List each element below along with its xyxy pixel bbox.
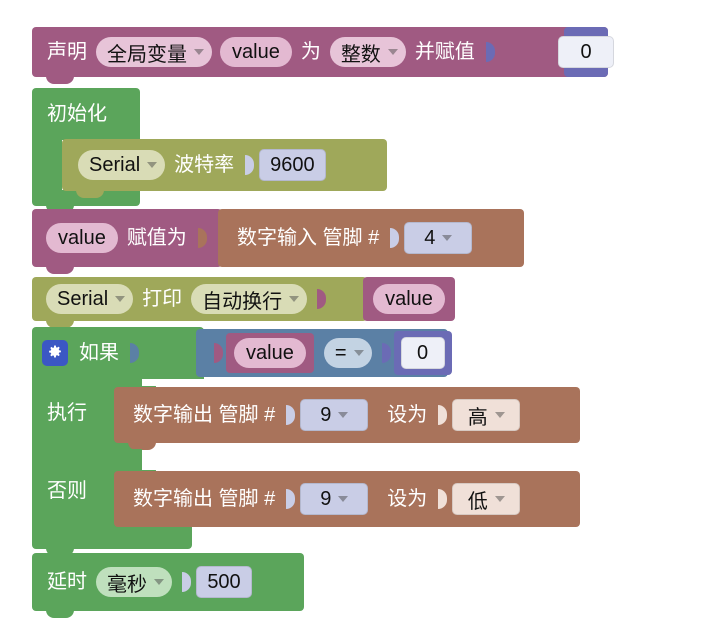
condition-socket <box>128 340 141 366</box>
number-block-0[interactable]: 0 <box>564 27 608 77</box>
delay-unit-value: 毫秒 <box>107 568 147 597</box>
serial-print-port-value: Serial <box>57 288 108 311</box>
variable-get-block-print[interactable]: value <box>363 277 455 321</box>
compare-block[interactable]: value = 0 <box>196 329 448 377</box>
gear-icon[interactable] <box>42 340 68 366</box>
digital-read-label: 数字输入 管脚 # <box>232 228 384 248</box>
variable-get-block-condition[interactable]: value <box>226 333 314 373</box>
pin-value-low: 9 <box>320 488 331 511</box>
serial-port-value: Serial <box>89 154 140 177</box>
chevron-down-icon <box>338 412 348 418</box>
state-dropdown-high[interactable]: 高 <box>452 399 520 431</box>
if-else-block-foot <box>32 527 192 549</box>
digital-write-block-high[interactable]: 数字输出 管脚 # 9 设为 高 <box>114 387 580 443</box>
state-socket-high <box>436 402 449 428</box>
chevron-down-icon <box>338 496 348 502</box>
operator-dropdown[interactable]: = <box>324 338 372 368</box>
number-block-condition[interactable]: 0 <box>394 331 452 375</box>
as-label: 为 <box>296 42 326 62</box>
set-to-label-low: 设为 <box>382 489 432 509</box>
if-else-block-header[interactable]: 如果 <box>32 327 204 379</box>
set-value-socket <box>196 225 209 251</box>
pin-dropdown-high[interactable]: 9 <box>300 399 368 431</box>
digital-write-block-low[interactable]: 数字输出 管脚 # 9 设为 低 <box>114 471 580 527</box>
assign-label: 并赋值 <box>410 42 480 62</box>
delay-value-socket <box>180 569 193 595</box>
set-variable-block[interactable]: value 赋值为 <box>32 209 222 267</box>
declare-variable-block[interactable]: 声明 全局变量 value 为 整数 并赋值 <box>32 27 608 77</box>
serial-print-port-dropdown[interactable]: Serial <box>46 284 133 314</box>
chevron-down-icon <box>354 350 364 356</box>
digital-write-label-low: 数字输出 管脚 # <box>128 489 280 509</box>
operator-value: = <box>335 342 347 365</box>
state-value-low: 低 <box>468 485 488 514</box>
delay-block[interactable]: 延时 毫秒 500 <box>32 553 304 611</box>
set-variable-name[interactable]: value <box>46 223 118 253</box>
do-label: 执行 <box>42 403 92 423</box>
state-socket-low <box>436 486 449 512</box>
type-dropdown-value: 整数 <box>341 38 381 67</box>
number-field[interactable]: 0 <box>558 36 614 68</box>
type-dropdown[interactable]: 整数 <box>330 37 406 67</box>
value-socket <box>484 39 497 65</box>
chevron-down-icon <box>442 235 452 241</box>
blockly-workspace[interactable]: 声明 全局变量 value 为 整数 并赋值 0 初始化 Serial 波特率 <box>0 0 722 637</box>
pin-socket-low <box>284 486 297 512</box>
chevron-down-icon <box>154 579 164 585</box>
serial-print-block[interactable]: Serial 打印 自动换行 <box>32 277 367 321</box>
variable-get-name[interactable]: value <box>373 284 445 314</box>
set-label: 赋值为 <box>122 228 192 248</box>
delay-label: 延时 <box>42 572 92 592</box>
baud-socket <box>243 152 256 178</box>
pin-value-high: 9 <box>320 404 331 427</box>
chevron-down-icon <box>495 496 505 502</box>
chevron-down-icon <box>289 296 299 302</box>
print-label: 打印 <box>137 289 187 309</box>
newline-mode-value: 自动换行 <box>202 285 282 314</box>
state-value-high: 高 <box>468 401 488 430</box>
condition-number-field[interactable]: 0 <box>401 337 445 369</box>
declare-label: 声明 <box>42 42 92 62</box>
scope-dropdown[interactable]: 全局变量 <box>96 37 212 67</box>
baud-label: 波特率 <box>169 155 239 175</box>
setup-block-spine <box>32 138 62 198</box>
variable-name-field[interactable]: value <box>220 37 292 67</box>
digital-read-block[interactable]: 数字输入 管脚 # 4 <box>218 209 524 267</box>
pin-dropdown[interactable]: 4 <box>404 222 472 254</box>
pin-value: 4 <box>424 227 435 250</box>
chevron-down-icon <box>388 49 398 55</box>
baud-field[interactable]: 9600 <box>259 149 326 181</box>
delay-unit-dropdown[interactable]: 毫秒 <box>96 567 172 597</box>
set-to-label-high: 设为 <box>382 405 432 425</box>
pin-dropdown-low[interactable]: 9 <box>300 483 368 515</box>
chevron-down-icon <box>147 162 157 168</box>
else-label: 否则 <box>42 481 92 501</box>
setup-block[interactable]: 初始化 <box>32 88 140 140</box>
print-value-socket <box>315 286 328 312</box>
newline-mode-dropdown[interactable]: 自动换行 <box>191 284 307 314</box>
delay-value-field[interactable]: 500 <box>196 566 252 598</box>
setup-label: 初始化 <box>42 104 112 124</box>
condition-variable-name[interactable]: value <box>234 338 306 368</box>
chevron-down-icon <box>115 296 125 302</box>
scope-dropdown-value: 全局变量 <box>107 38 187 67</box>
digital-write-label-high: 数字输出 管脚 # <box>128 405 280 425</box>
pin-socket <box>388 225 401 251</box>
compare-right-socket <box>380 340 393 366</box>
pin-socket-high <box>284 402 297 428</box>
serial-begin-block[interactable]: Serial 波特率 9600 <box>62 139 387 191</box>
if-label: 如果 <box>74 343 124 363</box>
chevron-down-icon <box>194 49 204 55</box>
compare-left-socket <box>212 340 225 366</box>
state-dropdown-low[interactable]: 低 <box>452 483 520 515</box>
serial-port-dropdown[interactable]: Serial <box>78 150 165 180</box>
chevron-down-icon <box>495 412 505 418</box>
